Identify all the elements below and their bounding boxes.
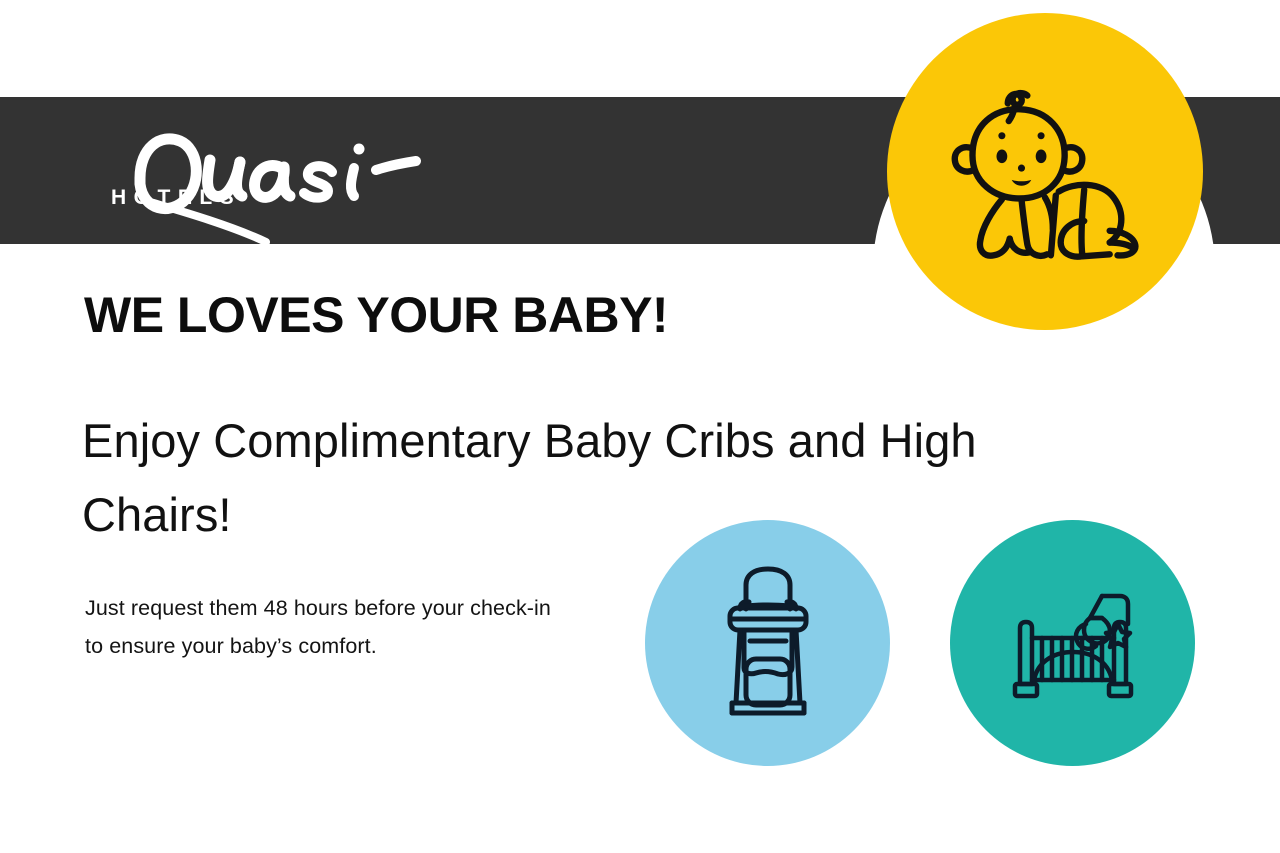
feature-baby-crib: Baby Crib [950,520,1195,766]
subheadline: Enjoy Complimentary Baby Cribs and High … [82,404,982,553]
promo-poster: Quasi- HOTELS [0,0,1280,853]
page-title: WE LOVES YOUR BABY! [84,289,668,342]
feature-high-chair: High Chair [645,520,890,766]
baby-crib-icon [998,568,1148,718]
brand-sub-wordmark: HOTELS [111,186,241,210]
high-chair-icon [708,563,828,723]
body-copy: Just request them 48 hours before your c… [85,590,560,666]
